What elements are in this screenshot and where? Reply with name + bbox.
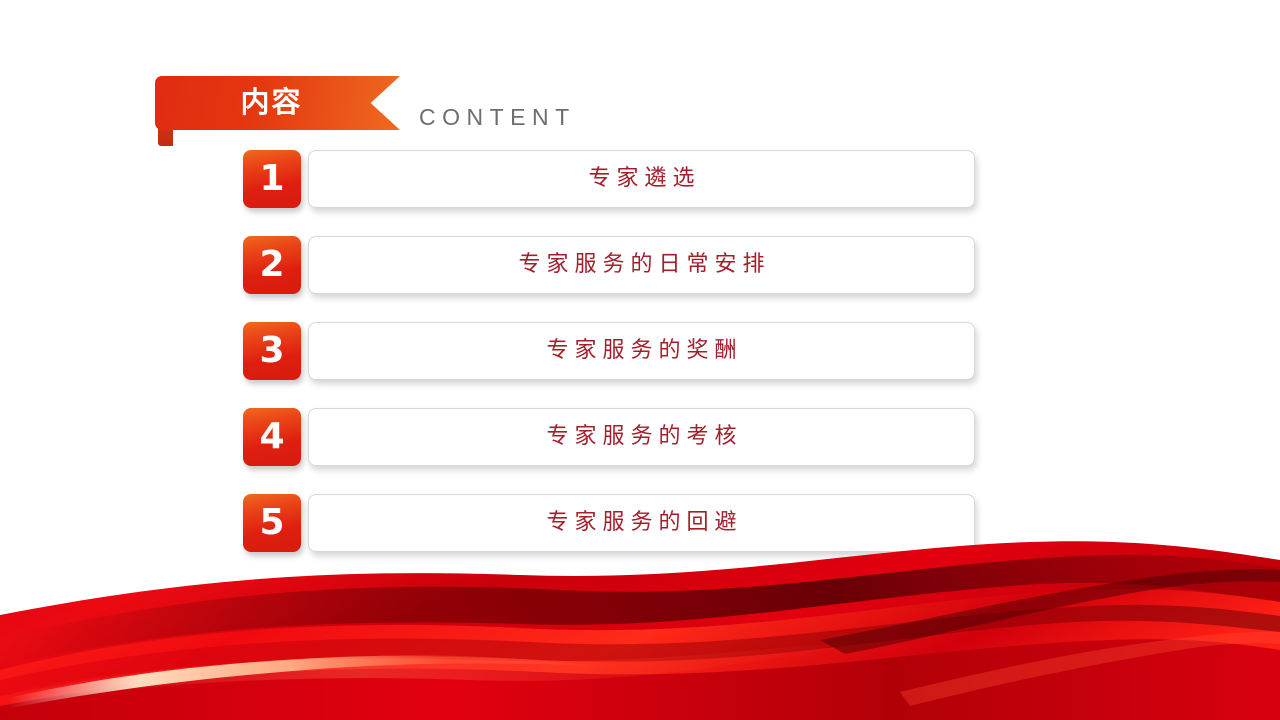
list-item-badge: 2	[243, 236, 301, 294]
list-item-card[interactable]: 专家遴选	[308, 150, 975, 208]
ribbon-title: 内容	[240, 89, 302, 118]
list-item[interactable]: 2 专家服务的日常安排	[0, 236, 1280, 294]
red-silk-wave-decoration	[0, 520, 1280, 720]
content-list: 1 专家遴选 2 专家服务的日常安排 3 专家服务的奖酬 4	[0, 150, 1280, 580]
list-item-number: 2	[259, 247, 284, 283]
list-item-number: 4	[259, 419, 284, 455]
list-item-label: 专家服务的考核	[540, 426, 742, 448]
section-subtitle: CONTENT	[419, 106, 576, 129]
list-item-badge: 1	[243, 150, 301, 208]
list-item-card[interactable]: 专家服务的奖酬	[308, 322, 975, 380]
list-item-badge: 3	[243, 322, 301, 380]
list-item-label: 专家遴选	[582, 168, 700, 190]
list-item-number: 3	[259, 333, 284, 369]
list-item[interactable]: 4 专家服务的考核	[0, 408, 1280, 466]
list-item-label: 专家服务的日常安排	[512, 254, 770, 276]
list-item-card[interactable]: 专家服务的考核	[308, 408, 975, 466]
list-item[interactable]: 1 专家遴选	[0, 150, 1280, 208]
list-item-label: 专家服务的奖酬	[540, 340, 742, 362]
list-item-badge: 4	[243, 408, 301, 466]
section-ribbon: 内容	[155, 76, 400, 130]
list-item[interactable]: 3 专家服务的奖酬	[0, 322, 1280, 380]
slide: 内容 CONTENT 1 专家遴选 2 专家服务的日常安排 3	[0, 0, 1280, 720]
list-item-number: 1	[259, 161, 284, 197]
slide-header: 内容 CONTENT	[0, 0, 1280, 160]
list-item-card[interactable]: 专家服务的日常安排	[308, 236, 975, 294]
